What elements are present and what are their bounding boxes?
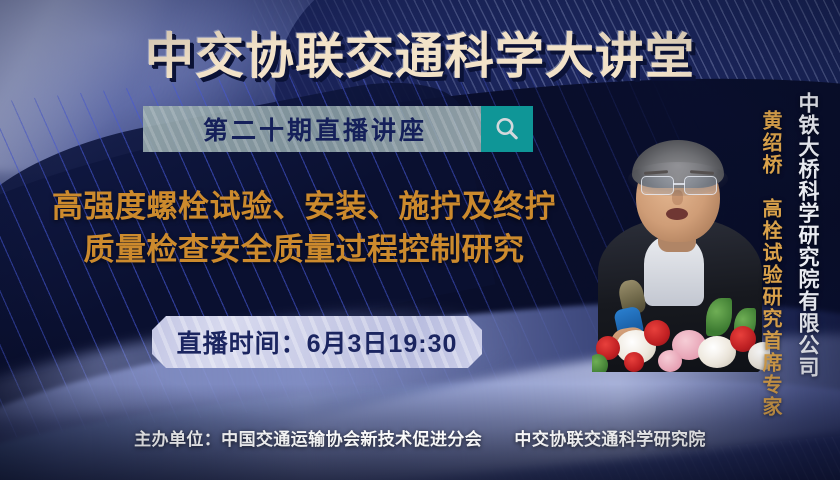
flower-pink [658, 350, 682, 372]
search-button[interactable] [481, 106, 533, 152]
glasses-lens-left [641, 176, 674, 195]
livestream-poster: 中交协联交通科学大讲堂 第二十期直播讲座 高强度螺栓试验、安装、施拧及终拧 质量… [0, 0, 840, 480]
speaker-glasses [640, 176, 718, 193]
speaker-organization: 中铁大桥科学研究院有限公司 [797, 92, 818, 378]
session-label: 第二十期直播讲座 [197, 111, 427, 147]
flower-leaf [706, 298, 732, 336]
livestream-time-text: 直播时间：6月3日19:30 [177, 324, 458, 360]
lecture-subject: 高强度螺栓试验、安装、施拧及终拧 质量检查安全质量过程控制研究 [8, 186, 600, 272]
session-search-bar[interactable]: 第二十期直播讲座 [143, 106, 533, 152]
glasses-lens-right [684, 176, 717, 195]
search-input[interactable]: 第二十期直播讲座 [143, 106, 481, 152]
lecture-subject-line-2: 质量检查安全质量过程控制研究 [8, 229, 600, 272]
speaker-photo [592, 132, 770, 372]
glasses-bridge [673, 183, 685, 185]
flower-rose [624, 352, 644, 372]
search-icon [493, 115, 521, 143]
flower-bouquet [592, 296, 770, 372]
speaker-name-and-role: 黄绍桥 高栓试验研究首席专家 [760, 110, 780, 418]
organizer-primary: 主办单位：中国交通运输协会新技术促进分会 [134, 430, 482, 449]
organizer-footer: 主办单位：中国交通运输协会新技术促进分会 中交协联交通科学研究院 [0, 425, 840, 450]
speaker-mouth [666, 208, 688, 220]
page-title: 中交协联交通科学大讲堂 [0, 17, 840, 88]
flower-rose [644, 320, 670, 346]
livestream-time-badge: 直播时间：6月3日19:30 [152, 316, 482, 368]
organizer-secondary: 中交协联交通科学研究院 [514, 430, 705, 449]
lecture-subject-line-1: 高强度螺栓试验、安装、施拧及终拧 [52, 189, 556, 225]
